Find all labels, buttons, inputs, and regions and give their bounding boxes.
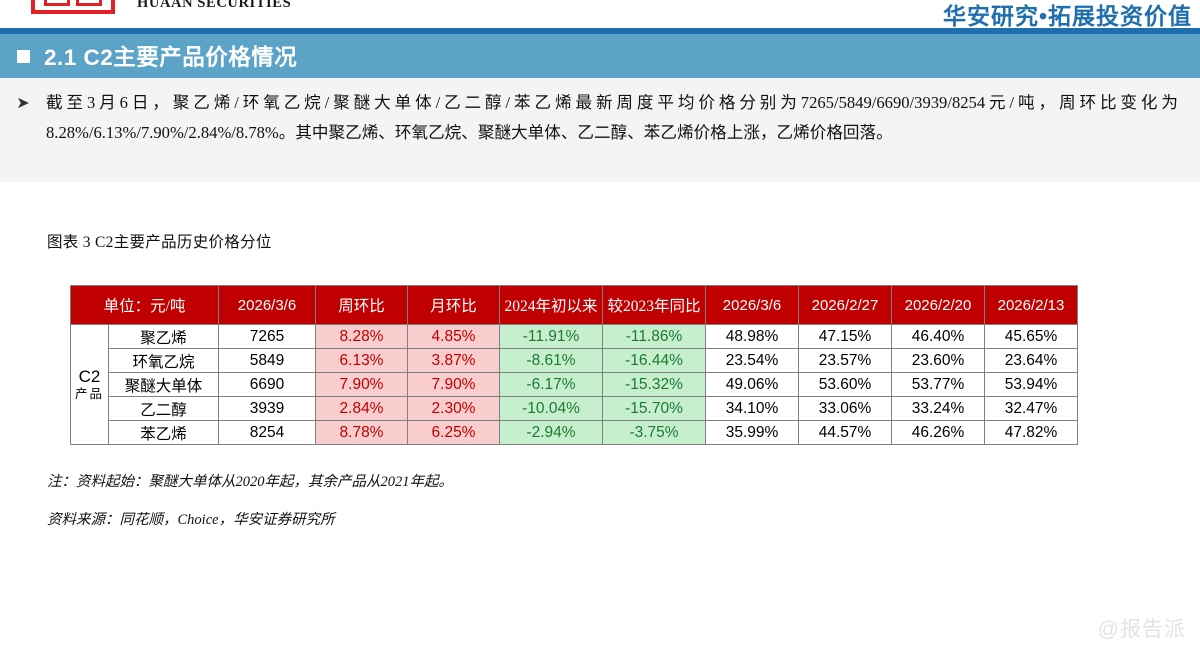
row-label-product: 乙二醇 (109, 397, 219, 421)
cell-quantile-20260220: 46.26% (892, 421, 985, 445)
cell-mom: 6.25% (408, 421, 500, 445)
group-sublabel: 产品 (71, 387, 108, 403)
cell-since-2024: -11.91% (500, 325, 603, 349)
watermark: @报告派 (1098, 613, 1186, 643)
cell-quantile-20260213: 47.82% (985, 421, 1078, 445)
cell-quantile-20260213: 32.47% (985, 397, 1078, 421)
col-header-mom: 月环比 (408, 286, 500, 325)
slide-page: HUAAN SECURITIES 华安研究•拓展投资价值 2.1 C2主要产品价… (0, 0, 1200, 651)
cell-since-2024: -10.04% (500, 397, 603, 421)
cell-quantile-20260213: 45.65% (985, 325, 1078, 349)
cell-quantile-20260227: 47.15% (799, 325, 892, 349)
table-row: 苯乙烯 8254 8.78% 6.25% -2.94% -3.75% 35.99… (71, 421, 1078, 445)
cell-yoy-2023: -11.86% (603, 325, 706, 349)
cell-wow: 8.78% (316, 421, 408, 445)
section-header-band: 2.1 C2主要产品价格情况 (0, 34, 1200, 78)
col-header-quantile-20260227: 2026/2/27 (799, 286, 892, 325)
row-label-product: 环氧乙烷 (109, 349, 219, 373)
header-slogan: 华安研究•拓展投资价值 (943, 0, 1192, 31)
cell-quantile-20260306: 35.99% (706, 421, 799, 445)
col-header-quantile-20260306: 2026/3/6 (706, 286, 799, 325)
logo-wordmark: HUAAN SECURITIES (137, 0, 291, 12)
cell-price: 3939 (219, 397, 316, 421)
cell-mom: 7.90% (408, 373, 500, 397)
figure-notes: 注：资料起始：聚醚大单体从2020年起，其余产品从2021年起。 资料来源：同花… (47, 470, 453, 529)
cell-quantile-20260213: 53.94% (985, 373, 1078, 397)
cell-quantile-20260213: 23.64% (985, 349, 1078, 373)
cell-yoy-2023: -15.32% (603, 373, 706, 397)
cell-mom: 2.30% (408, 397, 500, 421)
cell-quantile-20260220: 33.24% (892, 397, 985, 421)
table-row: 环氧乙烷 5849 6.13% 3.87% -8.61% -16.44% 23.… (71, 349, 1078, 373)
cell-quantile-20260227: 53.60% (799, 373, 892, 397)
cell-quantile-20260306: 23.54% (706, 349, 799, 373)
table-header-row: 单位：元/吨 2026/3/6 周环比 月环比 2024年初以来 较2023年同… (71, 286, 1078, 325)
cell-quantile-20260220: 46.40% (892, 325, 985, 349)
col-header-price-date: 2026/3/6 (219, 286, 316, 325)
summary-paragraph: 截至3月6日，聚乙烯/环氧乙烷/聚醚大单体/乙二醇/苯乙烯最新周度平均价格分别为… (46, 88, 1200, 148)
cell-quantile-20260306: 49.06% (706, 373, 799, 397)
cell-mom: 4.85% (408, 325, 500, 349)
cell-quantile-20260227: 44.57% (799, 421, 892, 445)
page-header: HUAAN SECURITIES 华安研究•拓展投资价值 (0, 0, 1200, 28)
figure-source-line: 资料来源：同花顺，Choice，华安证券研究所 (47, 508, 453, 529)
cell-since-2024: -8.61% (500, 349, 603, 373)
cell-quantile-20260306: 48.98% (706, 325, 799, 349)
cell-wow: 8.28% (316, 325, 408, 349)
cell-quantile-20260227: 33.06% (799, 397, 892, 421)
huaan-logo-icon (31, 0, 115, 14)
cell-quantile-20260220: 23.60% (892, 349, 985, 373)
col-header-since-2024: 2024年初以来 (500, 286, 603, 325)
cell-price: 8254 (219, 421, 316, 445)
cell-since-2024: -6.17% (500, 373, 603, 397)
cell-yoy-2023: -16.44% (603, 349, 706, 373)
section-title: 2.1 C2主要产品价格情况 (44, 40, 297, 72)
col-header-quantile-20260220: 2026/2/20 (892, 286, 985, 325)
table-row: C2 产品 聚乙烯 7265 8.28% 4.85% -11.91% -11.8… (71, 325, 1078, 349)
cell-quantile-20260220: 53.77% (892, 373, 985, 397)
cell-price: 7265 (219, 325, 316, 349)
cell-yoy-2023: -15.70% (603, 397, 706, 421)
row-label-product: 聚醚大单体 (109, 373, 219, 397)
figure-note-line: 注：资料起始：聚醚大单体从2020年起，其余产品从2021年起。 (47, 470, 453, 491)
triangle-right-bullet-icon: ➤ (0, 88, 46, 148)
col-header-unit: 单位：元/吨 (71, 286, 219, 325)
cell-wow: 6.13% (316, 349, 408, 373)
col-header-wow: 周环比 (316, 286, 408, 325)
cell-wow: 7.90% (316, 373, 408, 397)
cell-wow: 2.84% (316, 397, 408, 421)
cell-quantile-20260306: 34.10% (706, 397, 799, 421)
table-row: 乙二醇 3939 2.84% 2.30% -10.04% -15.70% 34.… (71, 397, 1078, 421)
cell-price: 5849 (219, 349, 316, 373)
summary-block: ➤ 截至3月6日，聚乙烯/环氧乙烷/聚醚大单体/乙二醇/苯乙烯最新周度平均价格分… (0, 78, 1200, 182)
figure-title: 图表 3 C2主要产品历史价格分位 (47, 230, 272, 252)
square-bullet-icon (17, 50, 30, 63)
cell-price: 6690 (219, 373, 316, 397)
cell-since-2024: -2.94% (500, 421, 603, 445)
cell-quantile-20260227: 23.57% (799, 349, 892, 373)
group-label-c2: C2 产品 (71, 325, 109, 445)
cell-yoy-2023: -3.75% (603, 421, 706, 445)
row-label-product: 聚乙烯 (109, 325, 219, 349)
col-header-yoy-2023: 较2023年同比 (603, 286, 706, 325)
price-quantile-table: 单位：元/吨 2026/3/6 周环比 月环比 2024年初以来 较2023年同… (70, 285, 1078, 445)
col-header-quantile-20260213: 2026/2/13 (985, 286, 1078, 325)
table-row: 聚醚大单体 6690 7.90% 7.90% -6.17% -15.32% 49… (71, 373, 1078, 397)
cell-mom: 3.87% (408, 349, 500, 373)
row-label-product: 苯乙烯 (109, 421, 219, 445)
